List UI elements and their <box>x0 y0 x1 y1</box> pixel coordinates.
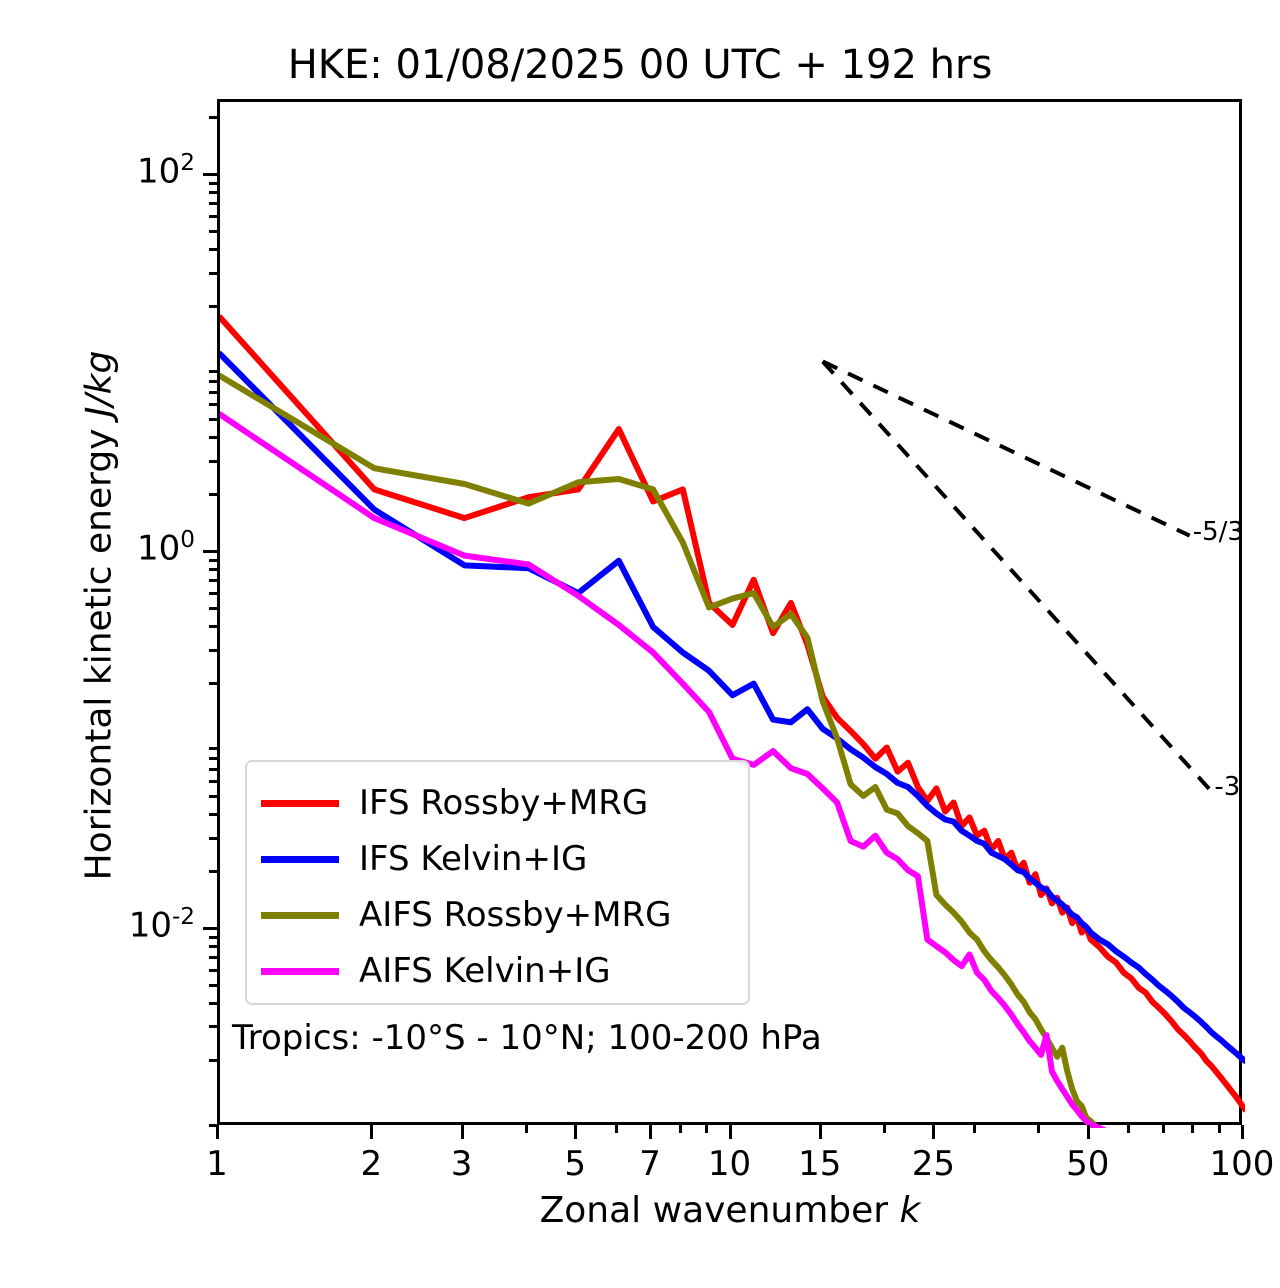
y-tick-minor <box>209 568 217 571</box>
x-tick-minor <box>705 1125 708 1133</box>
x-tick-major <box>216 1125 219 1139</box>
y-tick-minor <box>209 370 217 373</box>
y-tick-minor <box>209 984 217 987</box>
y-tick-minor <box>209 436 217 439</box>
slope-reference-lines <box>823 361 1212 791</box>
y-tick-minor <box>209 248 217 251</box>
slope-line-0 <box>823 361 1190 535</box>
chart-page: HKE: 01/08/2025 00 UTC + 192 hrs Horizon… <box>0 0 1280 1288</box>
legend: IFS Rossby+MRGIFS Kelvin+IGAIFS Rossby+M… <box>245 760 750 1005</box>
x-tick-minor <box>1191 1125 1194 1133</box>
y-tick-minor <box>209 272 217 275</box>
x-tick-label: 25 <box>873 1144 993 1184</box>
legend-swatch-icon <box>261 800 339 807</box>
y-tick-minor <box>209 870 217 873</box>
y-tick-minor <box>209 215 217 218</box>
x-tick-major <box>932 1125 935 1139</box>
x-tick-major <box>461 1125 464 1139</box>
data-series-group <box>220 317 1245 1128</box>
x-tick-label: 50 <box>1028 1144 1148 1184</box>
x-axis-label-symbol: k <box>900 1190 921 1231</box>
y-tick-minor <box>209 780 217 783</box>
x-tick-label: 15 <box>760 1144 880 1184</box>
y-tick-minor <box>209 795 217 798</box>
y-tick-label: 102 <box>137 150 195 191</box>
y-tick-minor <box>209 1025 217 1028</box>
x-tick-minor <box>615 1125 618 1133</box>
y-tick-minor <box>209 418 217 421</box>
x-tick-label: 3 <box>402 1144 522 1184</box>
legend-item-1[interactable]: IFS Kelvin+IG <box>261 832 587 886</box>
x-tick-minor <box>883 1125 886 1133</box>
y-tick-minor <box>209 116 217 119</box>
y-tick-minor <box>209 945 217 948</box>
legend-item-2[interactable]: AIFS Rossby+MRG <box>261 888 671 942</box>
y-tick-minor <box>209 757 217 760</box>
y-tick-minor <box>209 837 217 840</box>
y-tick-minor <box>209 1002 217 1005</box>
y-tick-minor <box>209 1059 217 1062</box>
region-annotation: Tropics: -10°S - 10°N; 100-200 hPa <box>232 1018 822 1058</box>
legend-swatch-icon <box>261 968 339 975</box>
legend-item-0[interactable]: IFS Rossby+MRG <box>261 776 648 830</box>
y-tick-minor <box>209 936 217 939</box>
x-tick-major <box>1241 1125 1244 1139</box>
y-axis-label-unit: J/kg <box>79 351 120 417</box>
y-tick-label: 100 <box>137 527 195 568</box>
y-tick-minor <box>209 813 217 816</box>
x-tick-major <box>1087 1125 1090 1139</box>
x-tick-label: 1 <box>157 1144 277 1184</box>
slope-label-1: -3 <box>1214 772 1240 802</box>
y-tick-minor <box>209 202 217 205</box>
y-tick-minor <box>209 682 217 685</box>
y-tick-minor <box>209 391 217 394</box>
slope-line-1 <box>823 361 1212 791</box>
x-tick-minor <box>1127 1125 1130 1133</box>
y-tick-minor <box>209 403 217 406</box>
x-tick-minor <box>679 1125 682 1133</box>
y-axis-label-text: Horizontal kinetic energy <box>79 417 120 880</box>
x-axis-label: Zonal wavenumber k <box>217 1190 1243 1231</box>
y-tick-minor <box>209 607 217 610</box>
slope-label-0: -5/3 <box>1193 517 1244 547</box>
x-tick-major <box>649 1125 652 1139</box>
legend-item-3[interactable]: AIFS Kelvin+IG <box>261 944 611 998</box>
y-tick-major <box>203 173 217 176</box>
y-tick-minor <box>209 579 217 582</box>
y-tick-minor <box>209 592 217 595</box>
page-title: HKE: 01/08/2025 00 UTC + 192 hrs <box>0 42 1280 88</box>
y-tick-minor <box>209 380 217 383</box>
x-tick-major <box>370 1125 373 1139</box>
x-tick-minor <box>1162 1125 1165 1133</box>
legend-label: IFS Rossby+MRG <box>359 786 648 820</box>
y-tick-major <box>203 550 217 553</box>
y-tick-major <box>203 927 217 930</box>
y-tick-minor <box>209 969 217 972</box>
legend-label: IFS Kelvin+IG <box>359 842 587 876</box>
y-tick-minor <box>209 956 217 959</box>
y-tick-minor <box>209 182 217 185</box>
y-tick-minor <box>209 191 217 194</box>
x-tick-minor <box>973 1125 976 1133</box>
x-tick-major <box>729 1125 732 1139</box>
x-tick-minor <box>1218 1125 1221 1133</box>
x-tick-major <box>819 1125 822 1139</box>
y-tick-minor <box>209 649 217 652</box>
legend-label: AIFS Kelvin+IG <box>359 954 611 988</box>
y-tick-minor <box>209 625 217 628</box>
y-tick-minor <box>209 747 217 750</box>
y-tick-minor <box>209 493 217 496</box>
x-tick-major <box>574 1125 577 1139</box>
y-tick-minor <box>209 305 217 308</box>
x-axis-label-text: Zonal wavenumber <box>540 1190 900 1231</box>
x-tick-minor <box>1037 1125 1040 1133</box>
legend-swatch-icon <box>261 856 339 863</box>
legend-label: AIFS Rossby+MRG <box>359 898 671 932</box>
y-tick-minor <box>209 768 217 771</box>
legend-swatch-icon <box>261 912 339 919</box>
x-tick-minor <box>525 1125 528 1133</box>
y-tick-minor <box>209 559 217 562</box>
x-tick-label: 100 <box>1182 1144 1280 1184</box>
y-tick-label: 10-2 <box>129 904 195 945</box>
y-tick-minor <box>209 460 217 463</box>
y-axis-label: Horizontal kinetic energy J/kg <box>79 236 120 996</box>
y-tick-minor <box>209 230 217 233</box>
